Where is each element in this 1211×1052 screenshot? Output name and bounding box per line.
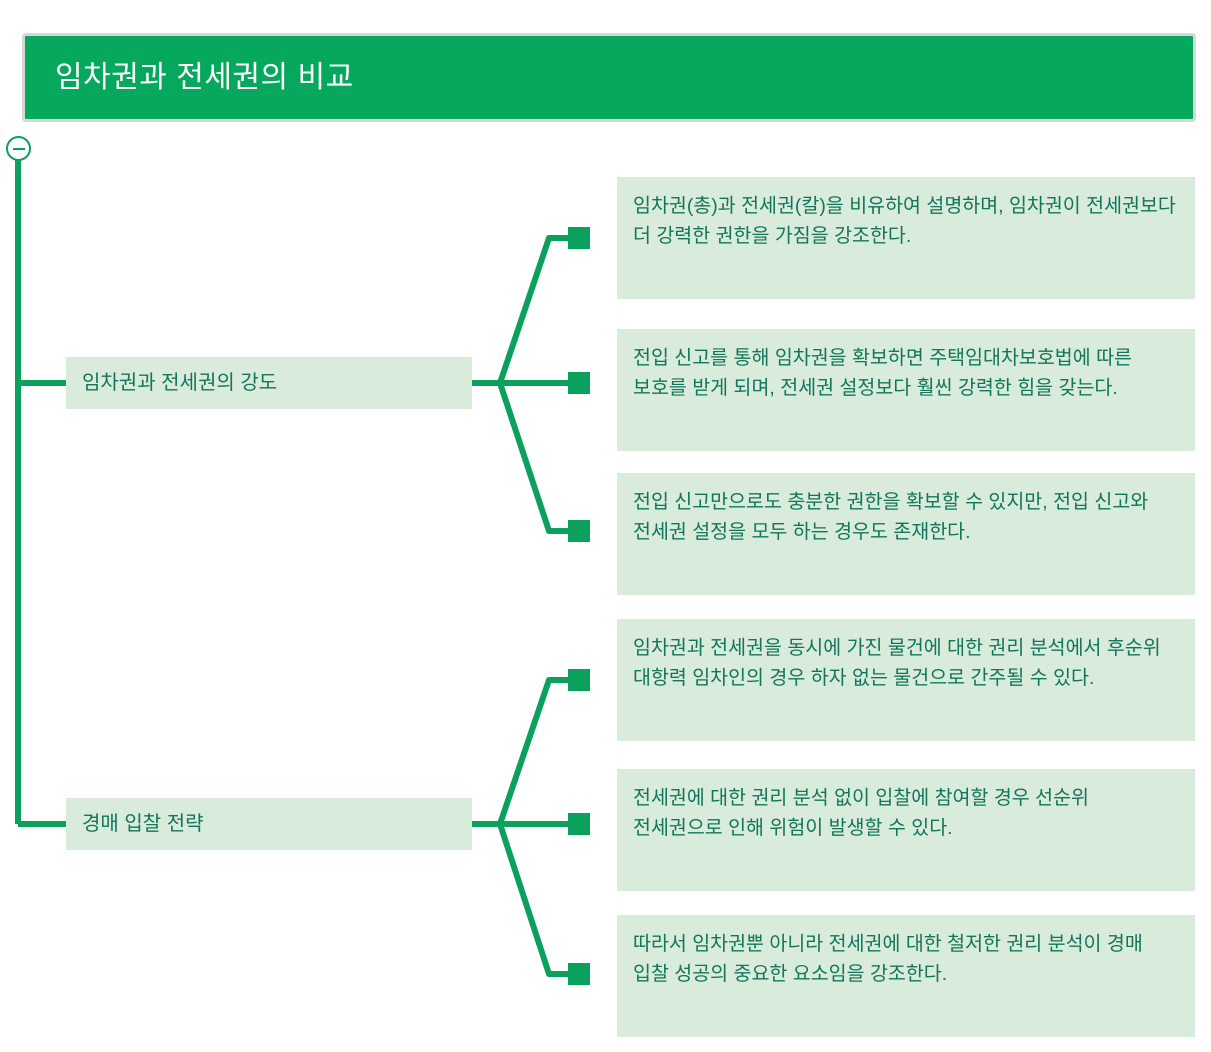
leaf-node-1-2[interactable]: 따라서 임차권뿐 아니라 전세권에 대한 철저한 권리 분석이 경매 입찰 성공… — [617, 915, 1195, 1037]
leaf-marker-1-2 — [568, 963, 590, 985]
leaf-marker-1-0 — [568, 669, 590, 691]
leaf-node-0-2[interactable]: 전입 신고만으로도 충분한 권한을 확보할 수 있지만, 전입 신고와 전세권 … — [617, 473, 1195, 595]
leaf-marker-0-2 — [568, 520, 590, 542]
branch-1-leaf-2-line — [500, 824, 578, 974]
leaf-marker-0-1 — [568, 372, 590, 394]
branch-0-leaf-0-line — [500, 238, 578, 383]
branch-node-0-label: 임차권과 전세권의 강도 — [66, 370, 277, 396]
leaf-node-0-1-text: 전입 신고를 통해 임차권을 확보하면 주택임대차보호법에 따른 보호를 받게 … — [633, 343, 1179, 403]
leaf-node-1-1-text: 전세권에 대한 권리 분석 없이 입찰에 참여할 경우 선순위 전세권으로 인해… — [633, 783, 1179, 843]
leaf-node-0-1[interactable]: 전입 신고를 통해 임차권을 확보하면 주택임대차보호법에 따른 보호를 받게 … — [617, 329, 1195, 451]
branch-node-0[interactable]: 임차권과 전세권의 강도 — [66, 357, 472, 409]
leaf-marker-0-0 — [568, 227, 590, 249]
branch-1-leaf-0-line — [500, 680, 578, 824]
leaf-marker-1-1 — [568, 813, 590, 835]
root-node[interactable]: 임차권과 전세권의 비교 — [22, 33, 1196, 122]
root-title: 임차권과 전세권의 비교 — [25, 60, 354, 96]
mindmap-canvas: 임차권과 전세권의 비교 임차권과 전세권의 강도 경매 입찰 전략 임차권(총… — [0, 0, 1211, 1052]
leaf-node-1-0[interactable]: 임차권과 전세권을 동시에 가진 물건에 대한 권리 분석에서 후순위 대항력 … — [617, 619, 1195, 741]
leaf-node-1-2-text: 따라서 임차권뿐 아니라 전세권에 대한 철저한 권리 분석이 경매 입찰 성공… — [633, 929, 1179, 989]
leaf-node-1-0-text: 임차권과 전세권을 동시에 가진 물건에 대한 권리 분석에서 후순위 대항력 … — [633, 633, 1179, 693]
collapse-minus-icon[interactable] — [6, 136, 31, 161]
leaf-node-1-1[interactable]: 전세권에 대한 권리 분석 없이 입찰에 참여할 경우 선순위 전세권으로 인해… — [617, 769, 1195, 891]
branch-node-1-label: 경매 입찰 전략 — [66, 811, 204, 837]
branch-node-1[interactable]: 경매 입찰 전략 — [66, 798, 472, 850]
leaf-node-0-0-text: 임차권(총)과 전세권(칼)을 비유하여 설명하며, 임차권이 전세권보다 더 … — [633, 191, 1179, 251]
branch-0-leaf-2-line — [500, 383, 578, 531]
leaf-node-0-2-text: 전입 신고만으로도 충분한 권한을 확보할 수 있지만, 전입 신고와 전세권 … — [633, 487, 1179, 547]
leaf-node-0-0[interactable]: 임차권(총)과 전세권(칼)을 비유하여 설명하며, 임차권이 전세권보다 더 … — [617, 177, 1195, 299]
minus-bar-shape — [13, 148, 25, 150]
